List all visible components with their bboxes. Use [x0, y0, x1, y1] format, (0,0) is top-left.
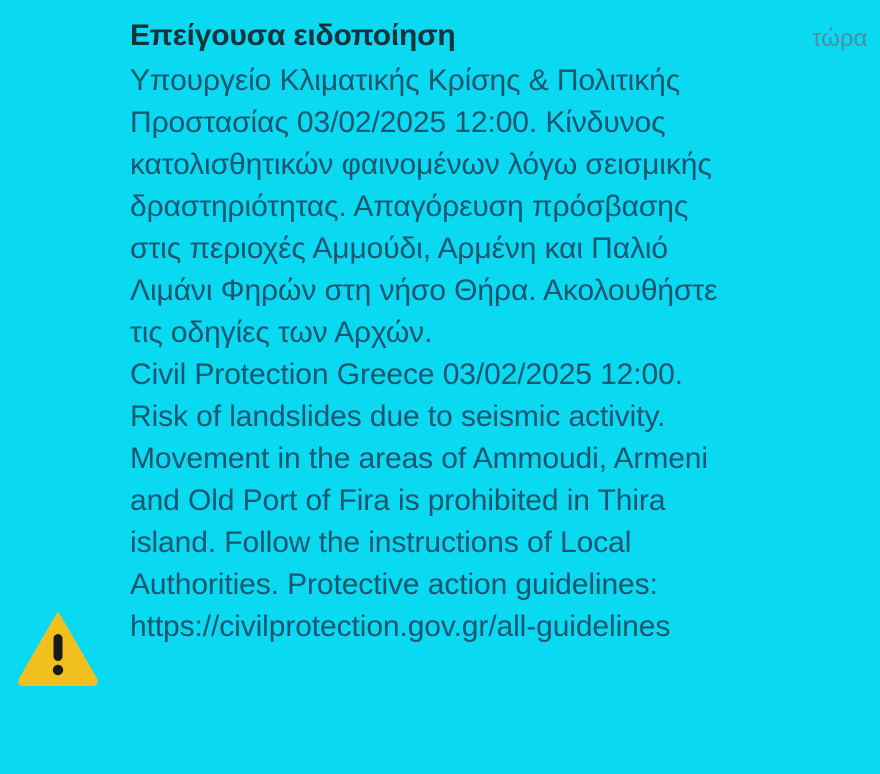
- alert-title: Επείγουσα ειδοποίηση: [130, 18, 456, 54]
- guidelines-url[interactable]: https://civilprotection.gov.gr/all-guide…: [130, 606, 872, 648]
- emergency-alert-notification[interactable]: Επείγουσα ειδοποίηση τώρα Υπουργείο Κλιμ…: [0, 0, 880, 774]
- message-line: Προστασίας 03/02/2025 12:00. Κίνδυνος: [130, 102, 872, 144]
- message-line: Civil Protection Greece 03/02/2025 12:00…: [130, 354, 872, 396]
- message-line: island. Follow the instructions of Local: [130, 522, 872, 564]
- message-line: δραστηριότητας. Απαγόρευση πρόσβασης: [130, 186, 872, 228]
- alert-header: Επείγουσα ειδοποίηση τώρα: [130, 18, 880, 58]
- message-line: Υπουργείο Κλιματικής Κρίσης & Πολιτικής: [130, 60, 872, 102]
- message-line: Movement in the areas of Ammoudi, Armeni: [130, 438, 872, 480]
- greek-message: Υπουργείο Κλιματικής Κρίσης & Πολιτικής …: [130, 60, 872, 354]
- message-line: Λιμάνι Φηρών στη νήσο Θήρα. Ακολουθήστε: [130, 270, 872, 312]
- alert-body: Υπουργείο Κλιματικής Κρίσης & Πολιτικής …: [130, 60, 872, 648]
- message-line: Authorities. Protective action guideline…: [130, 564, 872, 606]
- warning-triangle-icon: [18, 608, 98, 688]
- english-message: Civil Protection Greece 03/02/2025 12:00…: [130, 354, 872, 648]
- alert-timestamp: τώρα: [812, 24, 880, 54]
- message-line: στις περιοχές Αμμούδι, Αρμένη και Παλιό: [130, 228, 872, 270]
- message-line: τις οδηγίες των Αρχών.: [130, 312, 872, 354]
- message-line: and Old Port of Fira is prohibited in Th…: [130, 480, 872, 522]
- message-line: κατολισθητικών φαινομένων λόγω σεισμικής: [130, 144, 872, 186]
- message-line: Risk of landslides due to seismic activi…: [130, 396, 872, 438]
